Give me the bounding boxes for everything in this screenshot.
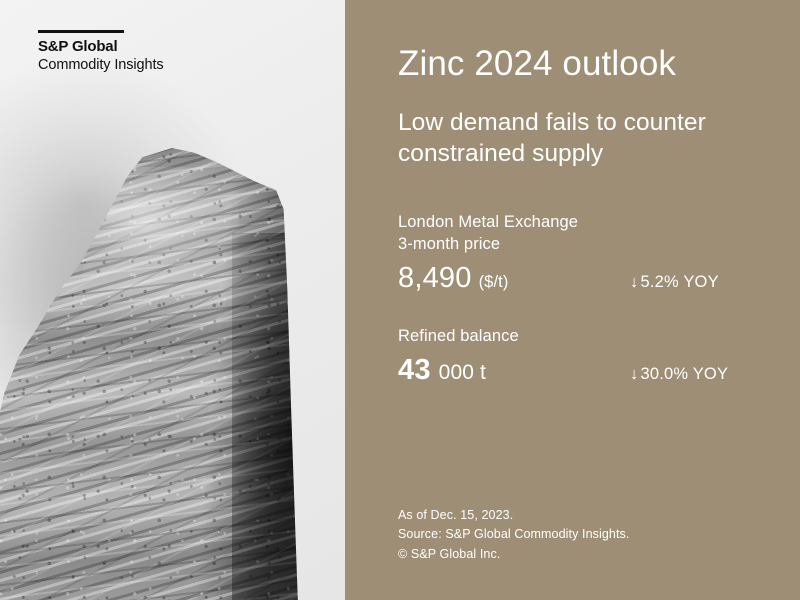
metric-change-text: 30.0% YOY: [640, 365, 728, 383]
footnote-source: Source: S&P Global Commodity Insights.: [398, 525, 629, 544]
metric-label: Refined balance: [398, 326, 788, 348]
footnote-copyright: © S&P Global Inc.: [398, 545, 629, 564]
footnote-as-of: As of Dec. 15, 2023.: [398, 506, 629, 525]
footnote: As of Dec. 15, 2023. Source: S&P Global …: [398, 506, 629, 564]
logo-rule-icon: [38, 30, 124, 33]
metric-value: 8,490: [398, 263, 472, 293]
page-subtitle: Low demand fails to counter constrained …: [398, 107, 788, 170]
content-panel: Zinc 2024 outlook Low demand fails to co…: [345, 0, 800, 600]
metric-lme-3-month-price: London Metal Exchange 3-month price 8,49…: [398, 212, 788, 293]
metric-figure-row: 43 000 t ↓30.0% YOY: [398, 355, 788, 385]
arrow-down-icon: ↓: [630, 365, 638, 383]
metric-unit: ($/t): [479, 273, 509, 292]
arrow-down-icon: ↓: [630, 273, 638, 291]
metric-label: London Metal Exchange 3-month price: [398, 212, 788, 256]
page-title: Zinc 2024 outlook: [398, 44, 778, 83]
metric-change: ↓30.0% YOY: [630, 365, 728, 384]
metric-figure-row: 8,490 ($/t) ↓5.2% YOY: [398, 263, 788, 293]
metric-unit: 000 t: [439, 361, 486, 385]
zinc-outlook-infographic: S&P Global Commodity Insights Zinc 2024 …: [0, 0, 800, 600]
metric-change: ↓5.2% YOY: [630, 273, 719, 292]
sp-global-logo: S&P Global Commodity Insights: [38, 30, 164, 74]
zinc-specimen-photo: S&P Global Commodity Insights: [0, 0, 345, 600]
metric-change-text: 5.2% YOY: [640, 273, 718, 291]
logo-brand-name: S&P Global: [38, 38, 164, 55]
metric-refined-balance: Refined balance 43 000 t ↓30.0% YOY: [398, 326, 788, 385]
logo-suite-name: Commodity Insights: [38, 56, 164, 74]
metric-value: 43: [398, 355, 431, 385]
